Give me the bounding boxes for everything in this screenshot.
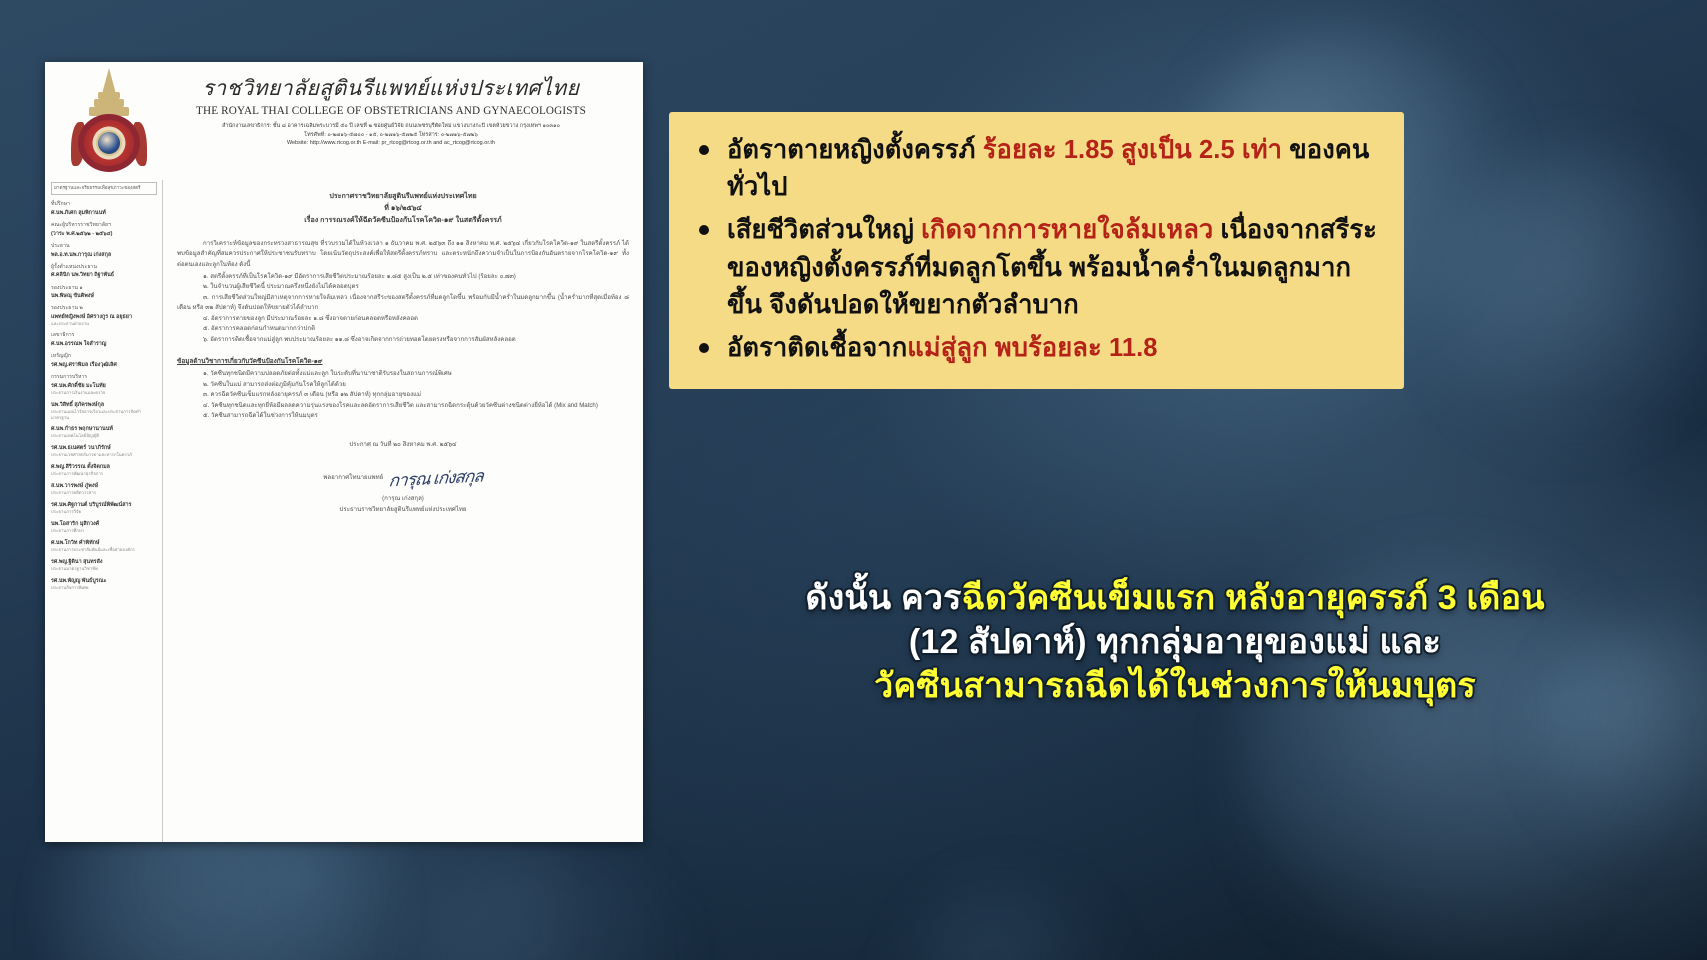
officer-name: (วาระ พ.ศ.๒๕๖๒ - ๒๕๖๔) [51,230,157,238]
officer-entry: รองประธาน ๒แพทย์หญิงพงษ์ อิศรางกูร ณ อยุ… [51,305,157,327]
bokeh-blob [420,840,680,960]
announcement-paragraph: การวิเคราะห์ข้อมูลของกระทรวงสาธารณสุข ที… [177,239,629,270]
bullet-plain-segment: เสียชีวิตส่วนใหญ่ [727,216,921,244]
officer-role: เหรัญญิก [51,353,157,361]
officer-subtitle: ประธานแผนไวรัสอาจเรียวและประธานการจัดทำม… [51,409,157,421]
announcement-number: ที่ ๑๖/๒๕๖๔ [177,202,629,214]
announcement-date: ประกาศ ณ วันที่ ๒๐ สิงหาคม พ.ศ. ๒๕๖๔ [177,440,629,450]
handwritten-signature: การุณ เก่งสกุล [388,462,485,496]
officer-name: แพทย์หญิงพงษ์ อิศรางกูร ณ อยุธยา [51,313,157,321]
officer-entry: รศ.นพ.ธเนศตร์ วนาภิรักษ์ประธานเวชศาสตร์ม… [51,444,157,458]
officer-name: รศ.พญ.ฐิตินา สุนทรสัง [51,558,157,566]
findings-list: ๑. สตรีตั้งครรภ์ที่เป็นโรคโควิด-๑๙ มีอัต… [177,272,629,345]
announcement-heading: ประกาศราชวิทยาลัยสูตินรีแพทย์แห่งประเทศไ… [177,190,629,202]
officer-role: คณะผู้บริหารราชวิทยาลัยฯ [51,222,157,230]
officer-name: รศ.พญ.ศราพิมล เรืองวุฒิเลิศ [51,361,157,369]
officer-subtitle: ประธานการประชาสัมพันธ์และเชื่อสายองค์กร [51,547,157,553]
office-address-line-1: สำนักงานเลขาธิการ: ชั้น ๘ อาคารเฉลิมพระบ… [157,122,625,130]
officer-entry: เหรัญญิกรศ.พญ.ศราพิมล เรืองวุฒิเลิศ [51,353,157,369]
officer-entry: ที่ปรึกษาศ.นพ.ภิเศก ลุมพิกานนท์ [51,201,157,217]
conclusion-plain-segment: (12 สัปดาห์) ทุกกลุ่มอายุของแม่ และ [909,623,1441,661]
academic-point-item: ๑. วัคซีนทุกชนิดมีความปลอดภัยต่อทั้งแม่แ… [177,369,629,379]
officer-name: รศ.นพ.ศิฐกานต์ บริบูรณ์พิพัฒน์สาร [51,501,157,509]
officer-role: รองประธาน ๒ [51,305,157,313]
officer-entry: คณะผู้บริหารราชวิทยาลัยฯ(วาระ พ.ศ.๒๕๖๒ -… [51,222,157,238]
college-motto: มาตรฐานและจริยธรรมเพื่อสุขภาวะของสตรี [51,182,157,195]
bullet-dot-icon [699,225,709,235]
officer-entry: นพ.โอสาริก มุสิกวงศ์ประธานการศึกษา [51,520,157,534]
conclusion-highlight-segment: ฉีดวัคซีนเข็มแรก หลังอายุครรภ์ 3 เดือน [962,579,1545,617]
officer-name: ศ.นพ.อรรณพ ใจสำราญ [51,340,157,348]
finding-item: ๓. การเสียชีวิตส่วนใหญ่มีสาเหตุจากการหาย… [177,293,629,314]
announcement-document-image: ราชวิทยาลัยสูตินรีแพทย์แห่งประเทศไทย THE… [45,62,643,842]
officer-role: กรรมการบริหาร [51,374,157,382]
officer-name: ศ.คลินิก นพ.วิทยา ถิฐาพันธ์ [51,271,157,279]
conclusion-line: (12 สัปดาห์) ทุกกลุ่มอายุของแม่ และ [660,620,1690,664]
officer-entry: ศ.นพ.กำธร พฤกษานานนท์ประธานเทคโนโลยีปัญญ… [51,425,157,439]
academic-point-item: ๓. ควรฉีดวัคซีนเข็มแรกหลังอายุครรภ์ ๓ เด… [177,390,629,400]
officer-subtitle: ประธานมาตรฐานวิชาชีพ [51,566,157,572]
academic-point-item: ๒. วัคซีนในแม่ สามารถส่งต่อภูมิคุ้มกันโร… [177,380,629,390]
officer-name: พล.อ.ท.นพ.การุณ เก่งสกุล [51,251,157,259]
officer-entry: ศ.พญ.สิริวรรณ ตั้งจิตกมลประธานการพัฒนาธุ… [51,463,157,477]
bullet-item: อัตราตายหญิงตั้งครรภ์ ร้อยละ 1.85 สูงเป็… [695,132,1380,206]
officer-subtitle: และประธานฝ่ายงาน [51,321,157,327]
officer-subtitle: ประธานการเงินงานและตรวจ [51,390,157,396]
bullet-text: อัตราติดเชื้อจากแม่สู่ลูก พบร้อยละ 11.8 [727,330,1158,367]
officer-subtitle: ประธานการพัฒนาธุรกิจการ [51,471,157,477]
announcement-subject: เรื่อง การรณรงค์ให้ฉีดวัคซีนป้องกันโรคโค… [177,214,629,226]
officer-entry: รศ.นพ.พัญญู พันธ์บูรณะประธานกิจการพิเศษ [51,577,157,591]
org-name-thai: ราชวิทยาลัยสูตินรีแพทย์แห่งประเทศไทย [157,68,625,100]
officer-entry: ส.นพ.วารพงษ์ ภู่พงษ์ประธานการผลิตวารสาร [51,482,157,496]
bullet-item: เสียชีวิตส่วนใหญ่ เกิดจากการหายใจล้มเหลว… [695,212,1380,324]
royal-crest-icon [73,68,145,176]
signer-rank: พลอากาศโทนายแพทย์ [323,473,383,483]
officer-role: ที่ปรึกษา [51,201,157,209]
officer-name: ศ.นพ.ภิเศก ลุมพิกานนท์ [51,209,157,217]
bullet-highlight-segment: เกิดจากการหายใจล้มเหลว [921,216,1213,244]
signer-position: ประธานราชวิทยาลัยสูตินรีแพทย์แห่งประเทศไ… [177,505,629,515]
bullet-plain-segment: อัตราตายหญิงตั้งครรภ์ [727,136,983,164]
bullet-dot-icon [699,145,709,155]
finding-item: ๑. สตรีตั้งครรภ์ที่เป็นโรคโควิด-๑๙ มีอัต… [177,272,629,282]
officer-name: นพ.วิสิทธิ์ สุภัครพงษ์กุล [51,401,157,409]
officer-name: นพ.โอสาริก มุสิกวงศ์ [51,520,157,528]
officer-entry: รศ.นพ.ศิฐกานต์ บริบูรณ์พิพัฒน์สารประธานก… [51,501,157,515]
officer-entry: ประธานพล.อ.ท.นพ.การุณ เก่งสกุล [51,243,157,259]
officer-subtitle: ประธานการวิจัย [51,509,157,515]
officer-role: รองประธาน ๑ [51,285,157,293]
officer-entry: ศ.นพ.โกวิท คำพิทักษ์ประธานการประชาสัมพัน… [51,539,157,553]
officers-sidebar: มาตรฐานและจริยธรรมเพื่อสุขภาวะของสตรี ที… [45,180,163,842]
finding-item: ๒. ในจำนวนผู้เสียชีวิตนี้ ประมาณครึ่งหนึ… [177,282,629,292]
signature-row: พลอากาศโทนายแพทย์ การุณ เก่งสกุล [177,464,629,493]
bullet-text: เสียชีวิตส่วนใหญ่ เกิดจากการหายใจล้มเหลว… [727,212,1380,324]
officer-role: ประธาน [51,243,157,251]
officer-list: ที่ปรึกษาศ.นพ.ภิเศก ลุมพิกานนท์คณะผู้บริ… [51,201,157,591]
officer-name: ส.นพ.วารพงษ์ ภู่พงษ์ [51,482,157,490]
academic-point-item: ๕. วัคซีนสามารถฉีดได้ในช่วงการให้นมบุตร [177,411,629,421]
academic-section-title: ข้อมูลด้านวิชาการเกี่ยวกับวัคซีนป้องกันโ… [177,356,629,367]
bullet-highlight-segment: แม่สู่ลูก พบร้อยละ 11.8 [907,334,1157,362]
bullet-item: อัตราติดเชื้อจากแม่สู่ลูก พบร้อยละ 11.8 [695,330,1380,367]
document-letterhead: ราชวิทยาลัยสูตินรีแพทย์แห่งประเทศไทย THE… [45,62,643,180]
finding-item: ๔. อัตราการตายของลูก มีประมาณร้อยละ ๑.๘ … [177,314,629,324]
signer-name: (การุณ เก่งสกุล) [177,494,629,504]
announcement-body: ประกาศราชวิทยาลัยสูตินรีแพทย์แห่งประเทศไ… [163,180,643,842]
officer-name: นพ.พิษณุ ขันติพงษ์ [51,292,157,300]
office-website-line: Website: http://www.rtcog.or.th E-mail: … [157,139,625,147]
bokeh-blob [900,880,1120,960]
presentation-slide: ราชวิทยาลัยสูตินรีแพทย์แห่งประเทศไทย THE… [0,0,1707,960]
officer-entry: ผู้รั้งตำแหน่งประธานศ.คลินิก นพ.วิทยา ถิ… [51,264,157,280]
bullet-plain-segment: อัตราติดเชื้อจาก [727,334,907,362]
conclusion-highlight-segment: วัคซีนสามารถฉีดได้ในช่วงการให้นมบุตร [874,667,1476,705]
bokeh-blob [1430,150,1707,450]
officer-subtitle: ประธานเวชศาสตร์มารดาและทารกในครรภ์ [51,452,157,458]
bullet-highlight-segment: ร้อยละ 1.85 สูงเป็น 2.5 เท่า [983,136,1282,164]
officer-role: ผู้รั้งตำแหน่งประธาน [51,264,157,272]
academic-points-list: ๑. วัคซีนทุกชนิดมีความปลอดภัยต่อทั้งแม่แ… [177,369,629,421]
officer-name: ศ.พญ.สิริวรรณ ตั้งจิตกมล [51,463,157,471]
conclusion-text: ดังนั้น ควรฉีดวัคซีนเข็มแรก หลังอายุครรภ… [660,576,1690,709]
conclusion-plain-segment: ดังนั้น ควร [805,579,961,617]
officer-name: ศ.นพ.โกวิท คำพิทักษ์ [51,539,157,547]
officer-entry: รศ.พญ.ฐิตินา สุนทรสังประธานมาตรฐานวิชาชี… [51,558,157,572]
key-findings-panel: อัตราตายหญิงตั้งครรภ์ ร้อยละ 1.85 สูงเป็… [669,112,1404,389]
officer-subtitle: ประธานการผลิตวารสาร [51,490,157,496]
finding-item: ๕. อัตราการคลอดก่อนกำหนดมากกว่าปกติ [177,324,629,334]
conclusion-line: ดังนั้น ควรฉีดวัคซีนเข็มแรก หลังอายุครรภ… [660,576,1690,620]
officer-subtitle: ประธานการศึกษา [51,528,157,534]
office-phone-line: โทรศัพท์: ๐-๒๗๑๖-๕๗๐๐ - ๑๕, ๐-๒๗๑๖-๕๗๒๕ … [157,131,625,139]
bullet-text: อัตราตายหญิงตั้งครรภ์ ร้อยละ 1.85 สูงเป็… [727,132,1380,206]
officer-entry: รองประธาน ๑นพ.พิษณุ ขันติพงษ์ [51,285,157,301]
finding-item: ๖. อัตราการติดเชื้อจากแม่สู่ลูก พบประมาณ… [177,335,629,345]
officer-entry: กรรมการบริหารรศ.นพ.ศักดิ์ชัย มะโนทัยประธ… [51,374,157,396]
officer-subtitle: ประธานกิจการพิเศษ [51,585,157,591]
academic-point-item: ๔. วัคซีนทุกชนิดและทุกยี่ห้อมีผลลดความรุ… [177,401,629,411]
bullet-dot-icon [699,343,709,353]
officer-name: รศ.นพ.ธเนศตร์ วนาภิรักษ์ [51,444,157,452]
officer-name: รศ.นพ.ศักดิ์ชัย มะโนทัย [51,382,157,390]
officer-role: เลขาธิการ [51,332,157,340]
officer-entry: นพ.วิสิทธิ์ สุภัครพงษ์กุลประธานแผนไวรัสอ… [51,401,157,421]
officer-name: รศ.นพ.พัญญู พันธ์บูรณะ [51,577,157,585]
conclusion-line: วัคซีนสามารถฉีดได้ในช่วงการให้นมบุตร [660,664,1690,708]
officer-subtitle: ประธานเทคโนโลยีปัญญัติ [51,433,157,439]
org-name-english: THE ROYAL THAI COLLEGE OF OBSTETRICIANS … [157,105,625,117]
officer-entry: เลขาธิการศ.นพ.อรรณพ ใจสำราญ [51,332,157,348]
